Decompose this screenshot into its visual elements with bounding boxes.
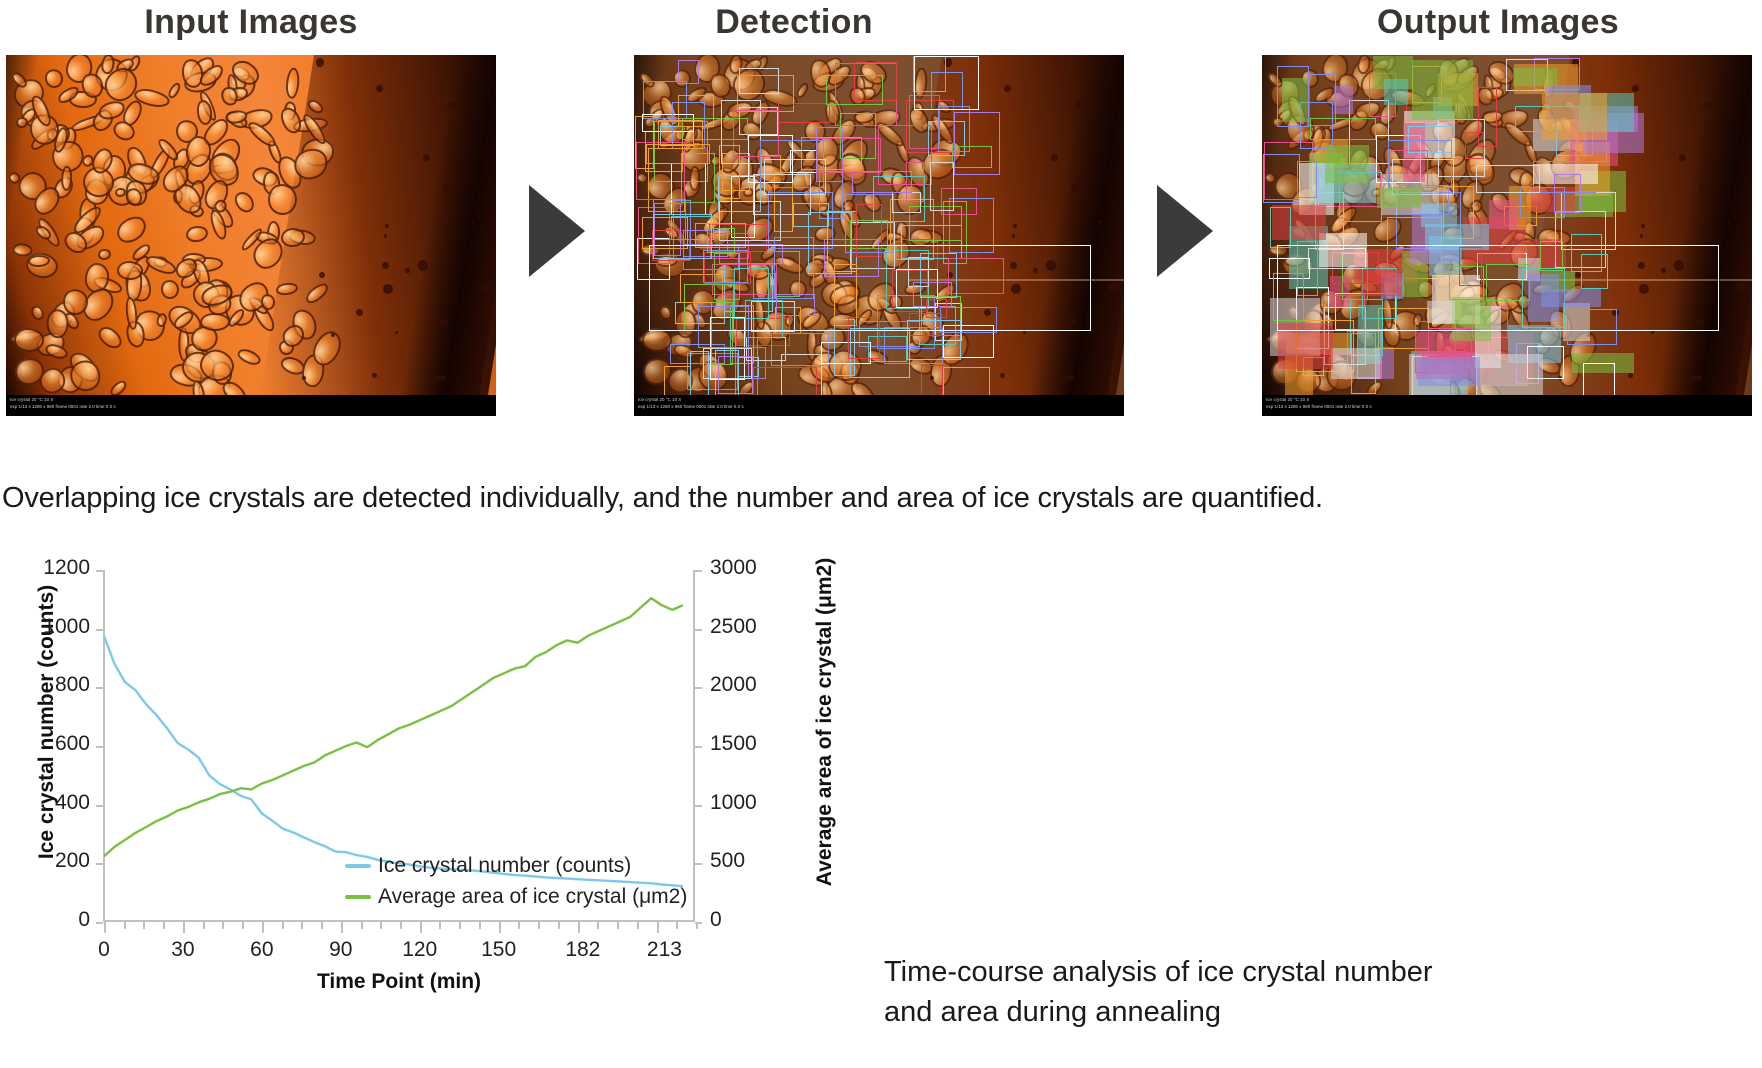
y-left-axis-title: Ice crystal number (counts)	[35, 557, 59, 887]
y-right-tick-label: 0	[710, 908, 800, 932]
y-right-tick	[695, 863, 702, 865]
legend-item-number: Ice crystal number (counts)	[345, 850, 687, 881]
y-right-axis-title: Average area of ice crystal (μm2)	[813, 557, 837, 887]
dust-spot	[1679, 154, 1686, 161]
x-axis-title: Time Point (min)	[103, 970, 695, 994]
dust-spot	[1012, 234, 1015, 237]
x-tick	[124, 922, 126, 929]
segmentation-box	[1270, 207, 1291, 248]
dust-spot	[1640, 234, 1643, 237]
dust-spot	[1641, 224, 1645, 228]
image-overlay-caption: Ice crystal 20 °C 10 X exp 1/13 s 1280 x…	[634, 395, 1124, 416]
legend-swatch-number	[345, 864, 371, 868]
dust-spot	[1004, 85, 1011, 92]
x-tick	[341, 922, 343, 933]
dust-spot	[1736, 282, 1746, 292]
dust-spot	[1651, 331, 1654, 334]
x-tick	[657, 922, 659, 933]
overlay-text-line-2: exp 1/13 s 1280 x 960 frame 0001 rate 2.…	[10, 404, 116, 409]
x-tick	[203, 922, 205, 929]
y-left-tick-label: 600	[0, 732, 90, 756]
y-right-tick-label: 3000	[710, 556, 800, 580]
segmentation-box	[1297, 161, 1317, 198]
dust-spot	[471, 220, 474, 223]
x-tick	[538, 922, 540, 929]
dust-spot	[441, 375, 446, 380]
x-tick	[499, 922, 501, 933]
y-left-tick-label: 1200	[0, 556, 90, 580]
x-tick	[439, 922, 441, 929]
detection-box	[718, 356, 753, 394]
y-left-tick	[96, 687, 103, 689]
x-tick	[676, 922, 678, 929]
y-left-tick	[96, 805, 103, 807]
y-left-tick	[96, 746, 103, 748]
chart-legend: Ice crystal number (counts) Average area…	[345, 850, 687, 912]
dust-spot	[450, 178, 458, 186]
overlay-text-line-1: Ice crystal 20 °C 10 X	[638, 397, 681, 402]
segmentation-box	[1418, 357, 1480, 386]
x-tick	[143, 922, 145, 929]
dust-spot	[1690, 375, 1697, 382]
x-tick	[459, 922, 461, 929]
detection-box	[914, 56, 980, 110]
detection-box	[646, 144, 710, 163]
x-tick-label: 213	[629, 938, 699, 962]
segmentation-box	[1334, 86, 1353, 115]
dust-spot	[384, 234, 387, 237]
x-tick	[597, 922, 599, 929]
legend-label-area: Average area of ice crystal (μm2)	[378, 885, 687, 909]
y-right-tick	[695, 570, 702, 572]
detection-box	[817, 138, 881, 174]
x-tick-label: 182	[548, 938, 618, 962]
y-left-tick-label: 400	[0, 791, 90, 815]
overlay-text-line-2: exp 1/13 s 1280 x 960 frame 0001 rate 2.…	[1266, 404, 1372, 409]
image-overlay-caption: Ice crystal 20 °C 10 X exp 1/13 s 1280 x…	[1262, 395, 1752, 416]
y-right-tick	[695, 746, 702, 748]
x-tick	[578, 922, 580, 933]
dust-spot	[385, 224, 389, 228]
micrograph-canvas-input	[6, 55, 496, 395]
x-tick	[282, 922, 284, 929]
right-triangle-arrow-icon	[1157, 185, 1213, 277]
dust-spot	[434, 375, 441, 382]
detection-micrograph: Ice crystal 20 °C 10 X exp 1/13 s 1280 x…	[634, 55, 1124, 416]
dust-spot	[1069, 375, 1074, 380]
segmentation-box	[1339, 172, 1382, 222]
x-tick	[222, 922, 224, 929]
y-left-tick	[96, 570, 103, 572]
ice-crystal	[60, 166, 72, 191]
dust-spot	[1727, 220, 1730, 223]
x-tick	[262, 922, 264, 933]
x-tick	[361, 922, 363, 929]
output-micrograph: Ice crystal 20 °C 10 X exp 1/13 s 1280 x…	[1262, 55, 1752, 416]
x-tick	[242, 922, 244, 929]
detection-box	[826, 75, 883, 105]
detection-box	[873, 176, 925, 222]
segmentation-box	[1277, 66, 1309, 126]
chart-description: Time-course analysis of ice crystal numb…	[884, 952, 1484, 1032]
segmentation-box	[1384, 79, 1407, 105]
x-tick	[637, 922, 639, 929]
x-tick	[400, 922, 402, 929]
y-right-tick-label: 2000	[710, 673, 800, 697]
ice-crystal	[267, 183, 297, 216]
segmentation-box	[1477, 354, 1543, 395]
figure-caption: Overlapping ice crystals are detected in…	[2, 482, 1742, 515]
segmentation-box	[1331, 348, 1380, 379]
x-tick	[183, 922, 185, 933]
y-left-tick	[96, 922, 103, 924]
dust-spot	[382, 262, 389, 269]
y-right-tick-label: 1000	[710, 791, 800, 815]
x-tick	[380, 922, 382, 929]
overlay-text-line-2: exp 1/13 s 1280 x 960 frame 0001 rate 2.…	[638, 404, 744, 409]
micrograph-canvas-detection	[634, 55, 1124, 395]
segmentation-box	[1476, 165, 1539, 193]
x-tick	[301, 922, 303, 929]
segmentation-box	[1583, 363, 1615, 395]
y-right-tick	[695, 629, 702, 631]
micrograph-canvas-output	[1262, 55, 1752, 395]
detection-box	[664, 366, 691, 395]
segmentation-box	[1489, 200, 1517, 228]
detection-box	[649, 245, 1091, 331]
panel-title-detection: Detection	[634, 0, 954, 44]
detection-box	[943, 367, 990, 395]
x-tick	[617, 922, 619, 929]
x-tick	[518, 922, 520, 929]
legend-swatch-area	[345, 895, 371, 899]
dust-spot	[480, 282, 490, 292]
x-tick	[321, 922, 323, 929]
x-tick-label: 0	[69, 938, 139, 962]
x-tick	[420, 922, 422, 933]
y-right-tick-label: 500	[710, 849, 800, 873]
dust-spot	[1108, 282, 1118, 292]
detection-box	[921, 365, 943, 395]
dust-spot	[405, 268, 409, 272]
dust-spot	[376, 85, 383, 92]
timecourse-chart: Ice crystal number (counts) Average area…	[0, 560, 800, 980]
detection-box	[954, 112, 999, 175]
x-tick	[479, 922, 481, 929]
x-tick-label: 60	[227, 938, 297, 962]
y-left-tick	[96, 863, 103, 865]
y-left-tick-label: 0	[0, 908, 90, 932]
overlay-text-line-1: Ice crystal 20 °C 10 X	[1266, 397, 1309, 402]
detection-box	[719, 145, 741, 200]
series-line-number	[104, 636, 683, 886]
y-left-tick-label: 200	[0, 849, 90, 873]
y-left-tick-label: 800	[0, 673, 90, 697]
x-tick-label: 120	[385, 938, 455, 962]
input-micrograph: Ice crystal 20 °C 10 X exp 1/13 s 1280 x…	[6, 55, 496, 416]
detection-box	[678, 60, 699, 84]
x-tick	[696, 922, 698, 929]
dust-spot	[1062, 375, 1069, 382]
x-tick-label: 150	[464, 938, 534, 962]
y-left-tick	[96, 629, 103, 631]
y-right-tick	[695, 805, 702, 807]
dust-spot	[1023, 331, 1026, 334]
segmentation-box	[1513, 68, 1557, 87]
x-tick-label: 30	[148, 938, 218, 962]
y-left-tick-label: 1000	[0, 615, 90, 639]
x-tick-label: 90	[306, 938, 376, 962]
detection-box	[1277, 245, 1719, 331]
detection-box	[753, 367, 817, 395]
dust-spot	[1099, 220, 1102, 223]
dust-spot	[1697, 375, 1702, 380]
dust-spot	[1078, 178, 1086, 186]
y-right-tick-label: 2500	[710, 615, 800, 639]
dust-spot	[383, 284, 393, 294]
dust-spot	[1706, 178, 1714, 186]
segmentation-box	[1554, 174, 1580, 214]
image-overlay-caption: Ice crystal 20 °C 10 X exp 1/13 s 1280 x…	[6, 395, 496, 416]
dust-spot	[1051, 154, 1058, 161]
y-right-tick	[695, 687, 702, 689]
dust-spot	[423, 154, 430, 161]
ice-crystal	[117, 260, 143, 279]
legend-item-area: Average area of ice crystal (μm2)	[345, 881, 687, 912]
segmentation-box	[1377, 188, 1421, 208]
dust-spot	[316, 58, 325, 67]
series-line-area	[104, 598, 683, 856]
y-right-tick-label: 1500	[710, 732, 800, 756]
segmentation-box	[1412, 60, 1473, 120]
x-tick	[163, 922, 165, 929]
panel-title-output: Output Images	[1268, 0, 1728, 44]
dust-spot	[1632, 85, 1639, 92]
segmentation-box	[1478, 87, 1497, 147]
panel-title-input: Input Images	[6, 0, 496, 44]
detection-box	[930, 162, 955, 210]
overlay-text-line-1: Ice crystal 20 °C 10 X	[10, 397, 53, 402]
x-tick	[558, 922, 560, 929]
x-tick	[104, 922, 106, 933]
dust-spot	[395, 331, 398, 334]
legend-label-number: Ice crystal number (counts)	[378, 854, 631, 878]
right-triangle-arrow-icon	[529, 185, 585, 277]
dust-spot	[1013, 224, 1017, 228]
segmentation-box	[1542, 93, 1607, 140]
